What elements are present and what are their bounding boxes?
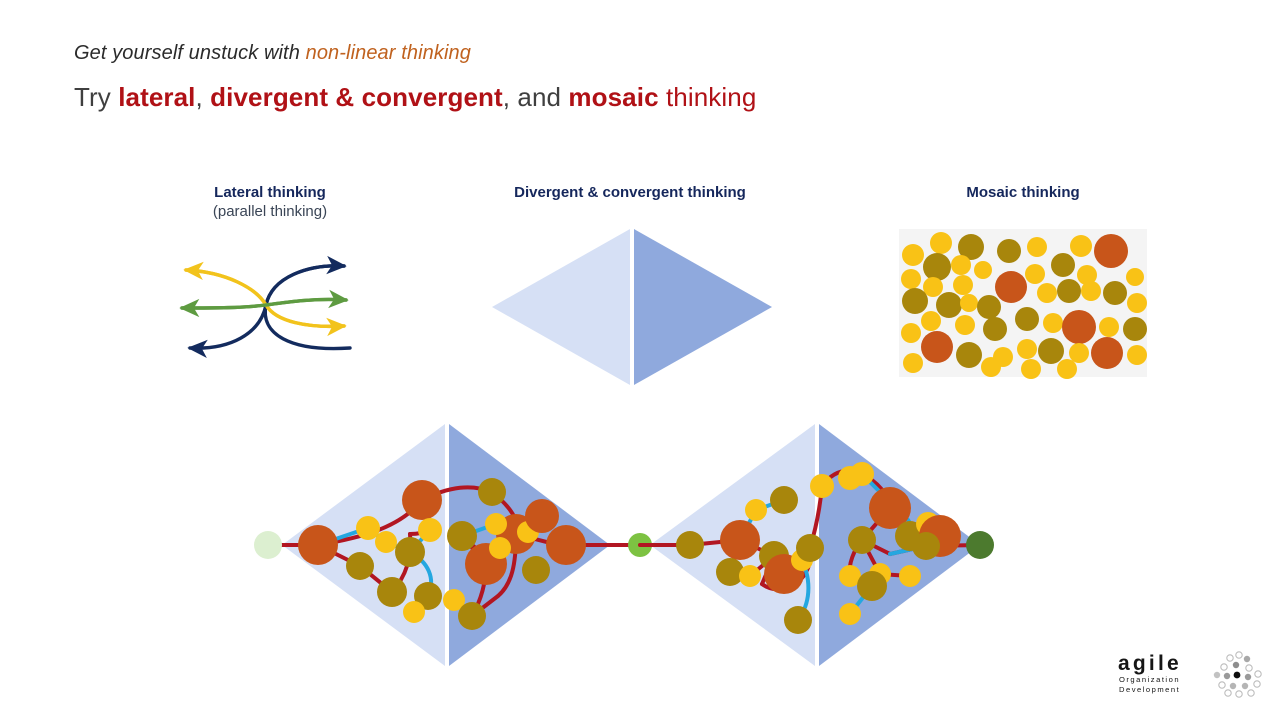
headline-part-4: thinking [659, 82, 757, 112]
node-yellow [485, 513, 507, 535]
mosaic-circle-olive [923, 253, 951, 281]
slide-canvas: Get yourself unstuck with non-linear thi… [0, 0, 1280, 720]
node-olive [848, 526, 876, 554]
caption-lateral-subtitle: (parallel thinking) [150, 203, 390, 220]
caption-divergent-title: Divergent & convergent thinking [514, 184, 746, 201]
mosaic-circle-olive [956, 342, 982, 368]
node-olive [458, 602, 486, 630]
logo-dot-cluster-icon [1214, 652, 1261, 697]
mosaic-circle-yellow [1025, 264, 1045, 284]
node-yellow [850, 462, 874, 486]
mosaic-circle-yellow [1069, 343, 1089, 363]
headline-divergent-convergent: divergent & convergent [210, 82, 503, 112]
mosaic-circle-olive [977, 295, 1001, 319]
mosaic-circle-yellow [1021, 359, 1041, 379]
node-yellow [810, 474, 834, 498]
mosaic-circle-yellow [921, 311, 941, 331]
caption-lateral-thinking: Lateral thinking (parallel thinking) [150, 184, 390, 220]
mosaic-circle-yellow [901, 269, 921, 289]
node-olive [784, 606, 812, 634]
node-yellow [745, 499, 767, 521]
mosaic-circle-olive [997, 239, 1021, 263]
mosaic-circle-olive [1015, 307, 1039, 331]
mosaic-circle-yellow [1037, 283, 1057, 303]
mosaic-circle-orange [995, 271, 1027, 303]
headline-lateral: lateral [118, 82, 195, 112]
mosaic-circle-yellow [951, 255, 971, 275]
mosaic-circle-olive [983, 317, 1007, 341]
mosaic-circle-olive [936, 292, 962, 318]
mosaic-circle-yellow [1017, 339, 1037, 359]
headline-mosaic: mosaic [568, 82, 658, 112]
mosaic-circle-yellow [903, 353, 923, 373]
node-yellow [418, 518, 442, 542]
node-olive [478, 478, 506, 506]
node-orange [720, 520, 760, 560]
mosaic-thinking-panel [899, 229, 1147, 377]
node-yellow [356, 516, 380, 540]
mosaic-circle-orange [921, 331, 953, 363]
mosaic-circle-yellow [974, 261, 992, 279]
node-orange [546, 525, 586, 565]
node-yellow [489, 537, 511, 559]
network-diamond-pair [250, 424, 1010, 666]
node-olive [912, 532, 940, 560]
headline-part-2: , [196, 82, 211, 112]
logo-wordmark: agile [1118, 652, 1182, 675]
mosaic-circle-yellow [1027, 237, 1047, 257]
mosaic-circle-yellow [901, 323, 921, 343]
diamond-right-convergent-half [634, 229, 772, 385]
mosaic-circle-yellow [955, 315, 975, 335]
caption-lateral-title: Lateral thinking [214, 184, 326, 201]
mosaic-circle-yellow [1081, 281, 1101, 301]
node-olive [395, 537, 425, 567]
caption-mosaic-thinking: Mosaic thinking [910, 184, 1136, 201]
mosaic-circle-yellow [1126, 268, 1144, 286]
mosaic-circle-yellow [1070, 235, 1092, 257]
node-yellow [839, 603, 861, 625]
mosaic-circle-yellow [1099, 317, 1119, 337]
mosaic-circle-yellow [953, 275, 973, 295]
mosaic-circle-yellow [1127, 293, 1147, 313]
mosaic-circle-orange [1094, 234, 1128, 268]
node-yellow [375, 531, 397, 553]
node-olive [857, 571, 887, 601]
headline-part-1: Try [74, 82, 118, 112]
divergent-convergent-diamond [492, 229, 772, 385]
mosaic-circle-yellow [1043, 313, 1063, 333]
node-yellow [403, 601, 425, 623]
node-orange [298, 525, 338, 565]
agile-logo: agile Organization Development [1118, 648, 1270, 698]
node-olive [346, 552, 374, 580]
mosaic-circle-orange [1062, 310, 1096, 344]
node-olive [522, 556, 550, 584]
arrow-navy-to-upper-right [265, 266, 350, 349]
node-orange [525, 499, 559, 533]
node-olive [676, 531, 704, 559]
mosaic-circle-yellow [981, 357, 1001, 377]
mosaic-circle-olive [1123, 317, 1147, 341]
eyebrow-line: Get yourself unstuck with non-linear thi… [74, 42, 471, 65]
node-olive [377, 577, 407, 607]
mosaic-circle-yellow [1127, 345, 1147, 365]
headline-part-3: , and [503, 82, 569, 112]
mosaic-circle-olive [1038, 338, 1064, 364]
mosaic-circle-olive [902, 288, 928, 314]
node-olive [770, 486, 798, 514]
mosaic-circle-yellow [960, 294, 978, 312]
node-olive [796, 534, 824, 562]
mosaic-circle-orange [1091, 337, 1123, 369]
eyebrow-accent: non-linear thinking [306, 42, 471, 64]
lateral-thinking-figure [168, 250, 368, 365]
node-olive [447, 521, 477, 551]
mosaic-circle-olive [1057, 279, 1081, 303]
node-yellow [899, 565, 921, 587]
eyebrow-lead: Get yourself unstuck with [74, 42, 306, 64]
mosaic-circle-yellow [923, 277, 943, 297]
page-title: Try lateral, divergent & convergent, and… [74, 82, 756, 113]
logo-line-organization: Organization [1119, 675, 1180, 684]
node-start-pale-green [254, 531, 282, 559]
node-yellow [739, 565, 761, 587]
mosaic-circle-olive [1051, 253, 1075, 277]
diamond-left-divergent-half [492, 229, 630, 385]
caption-mosaic-title: Mosaic thinking [966, 184, 1079, 201]
mosaic-circle-yellow [930, 232, 952, 254]
caption-divergent-convergent-thinking: Divergent & convergent thinking [490, 184, 770, 201]
node-end-dark-green [966, 531, 994, 559]
mosaic-circle-yellow [902, 244, 924, 266]
logo-line-development: Development [1119, 685, 1180, 694]
node-orange [402, 480, 442, 520]
mosaic-circle-yellow [1057, 359, 1077, 379]
mosaic-circle-olive [1103, 281, 1127, 305]
